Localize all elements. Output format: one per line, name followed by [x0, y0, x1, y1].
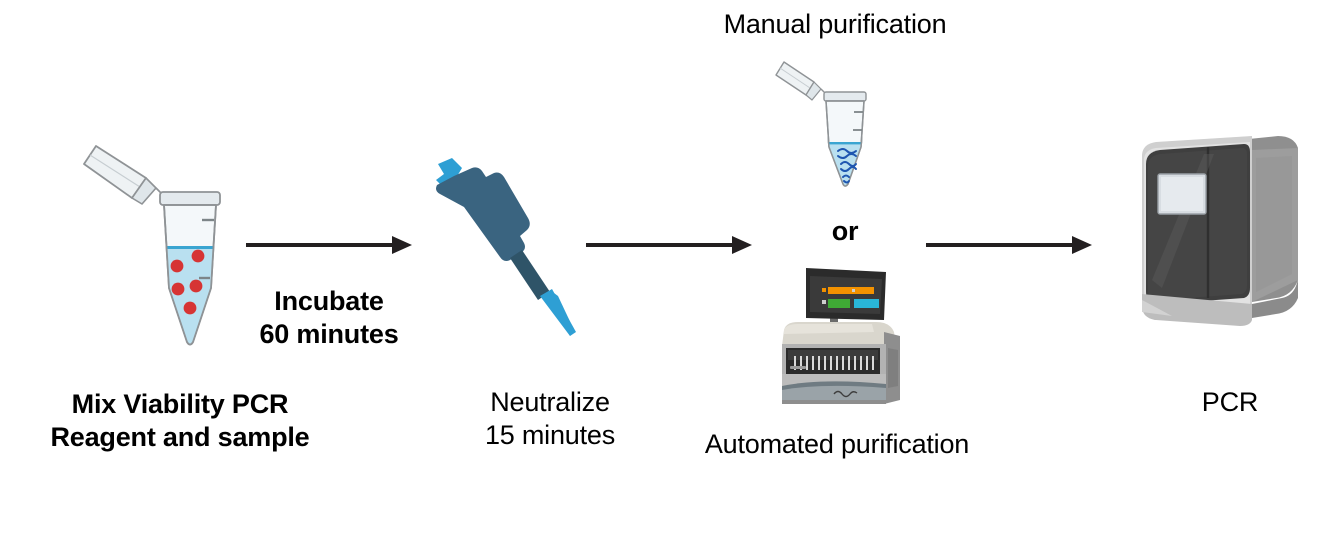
arrow-head-icon: [392, 236, 412, 254]
arrow-shaft: [246, 243, 394, 247]
microcentrifuge-tube-purified-icon: [762, 50, 892, 190]
automated-purification-instrument-icon: [772, 260, 912, 412]
label-or: or: [790, 215, 900, 248]
arrow-head-icon: [732, 236, 752, 254]
micropipette-icon: [424, 150, 604, 340]
label-pcr: PCR: [1150, 386, 1310, 419]
label-neutralize: Neutralize 15 minutes: [440, 386, 660, 452]
label-automated-purification: Automated purification: [672, 428, 1002, 461]
arrow-head-icon: [1072, 236, 1092, 254]
arrow-mix-to-neutralize: [246, 232, 412, 258]
workflow-diagram: Mix Viability PCR Reagent and sample Inc…: [0, 0, 1333, 549]
instrument-touchscreen: [806, 268, 886, 320]
label-manual-purification: Manual purification: [680, 8, 990, 41]
arrow-shaft: [926, 243, 1074, 247]
label-incubate: Incubate 60 minutes: [216, 285, 442, 351]
step-manual-purification: [762, 50, 892, 190]
label-mix-sample: Mix Viability PCR Reagent and sample: [20, 388, 340, 454]
arrow-shaft: [586, 243, 734, 247]
thermal-cycler-icon: [1132, 130, 1322, 330]
arrow-purification-to-pcr: [926, 232, 1092, 258]
arrow-neutralize-to-purification: [586, 232, 752, 258]
step-neutralize: [424, 150, 604, 340]
step-pcr: [1132, 130, 1322, 330]
step-automated-purification: [772, 260, 912, 412]
